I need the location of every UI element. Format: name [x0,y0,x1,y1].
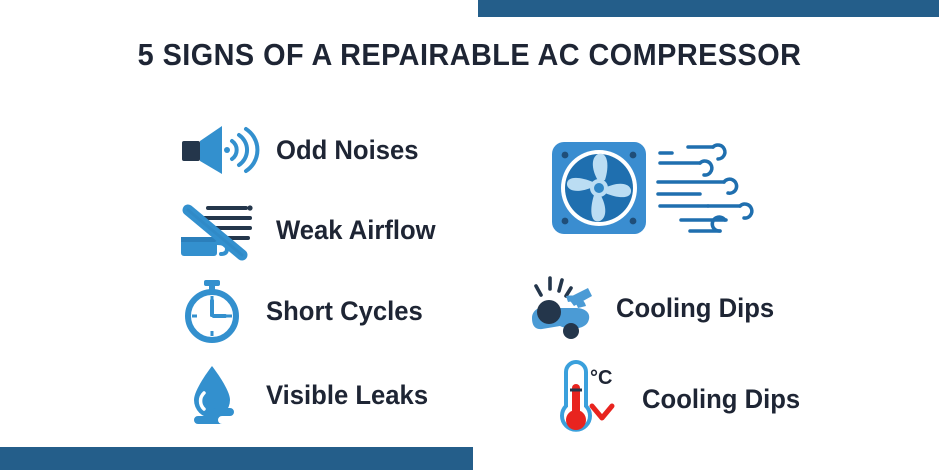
thermometer-unit-label: °C [590,367,612,389]
sign-label-visible-leaks: Visible Leaks [266,380,428,411]
sign-item-fan-airflow [548,130,758,245]
infographic-slide: 5 SIGNS OF A REPAIRABLE AC COMPRESSOR Od… [0,0,939,470]
sign-item-odd-noises: Odd Noises [180,124,426,176]
top-accent-bar [478,0,939,17]
sign-label-short-cycles: Short Cycles [266,296,423,327]
sign-item-cooling-dips-compressor: Cooling Dips [522,274,782,342]
speaker-sound-icon [180,124,254,176]
sign-label-odd-noises: Odd Noises [276,135,419,166]
sign-item-cooling-dips-thermometer: °C Cooling Dips [552,358,808,440]
water-droplet-leak-icon [180,364,244,426]
fan-with-wind-icon [548,130,758,245]
blocked-airflow-icon [180,201,256,259]
sign-item-short-cycles: Short Cycles [180,280,431,342]
thermometer-icon: °C [552,358,628,440]
sign-label-cooling-dips-compressor: Cooling Dips [616,293,774,324]
compressor-impact-icon [522,274,600,342]
sign-item-visible-leaks: Visible Leaks [180,364,437,426]
stopwatch-icon [180,280,244,342]
sign-label-weak-airflow: Weak Airflow [276,215,436,246]
sign-item-weak-airflow: Weak Airflow [180,201,444,259]
sign-label-cooling-dips-thermometer: Cooling Dips [642,384,800,415]
page-title: 5 SIGNS OF A REPAIRABLE AC COMPRESSOR [33,37,906,73]
bottom-accent-bar [0,447,473,470]
